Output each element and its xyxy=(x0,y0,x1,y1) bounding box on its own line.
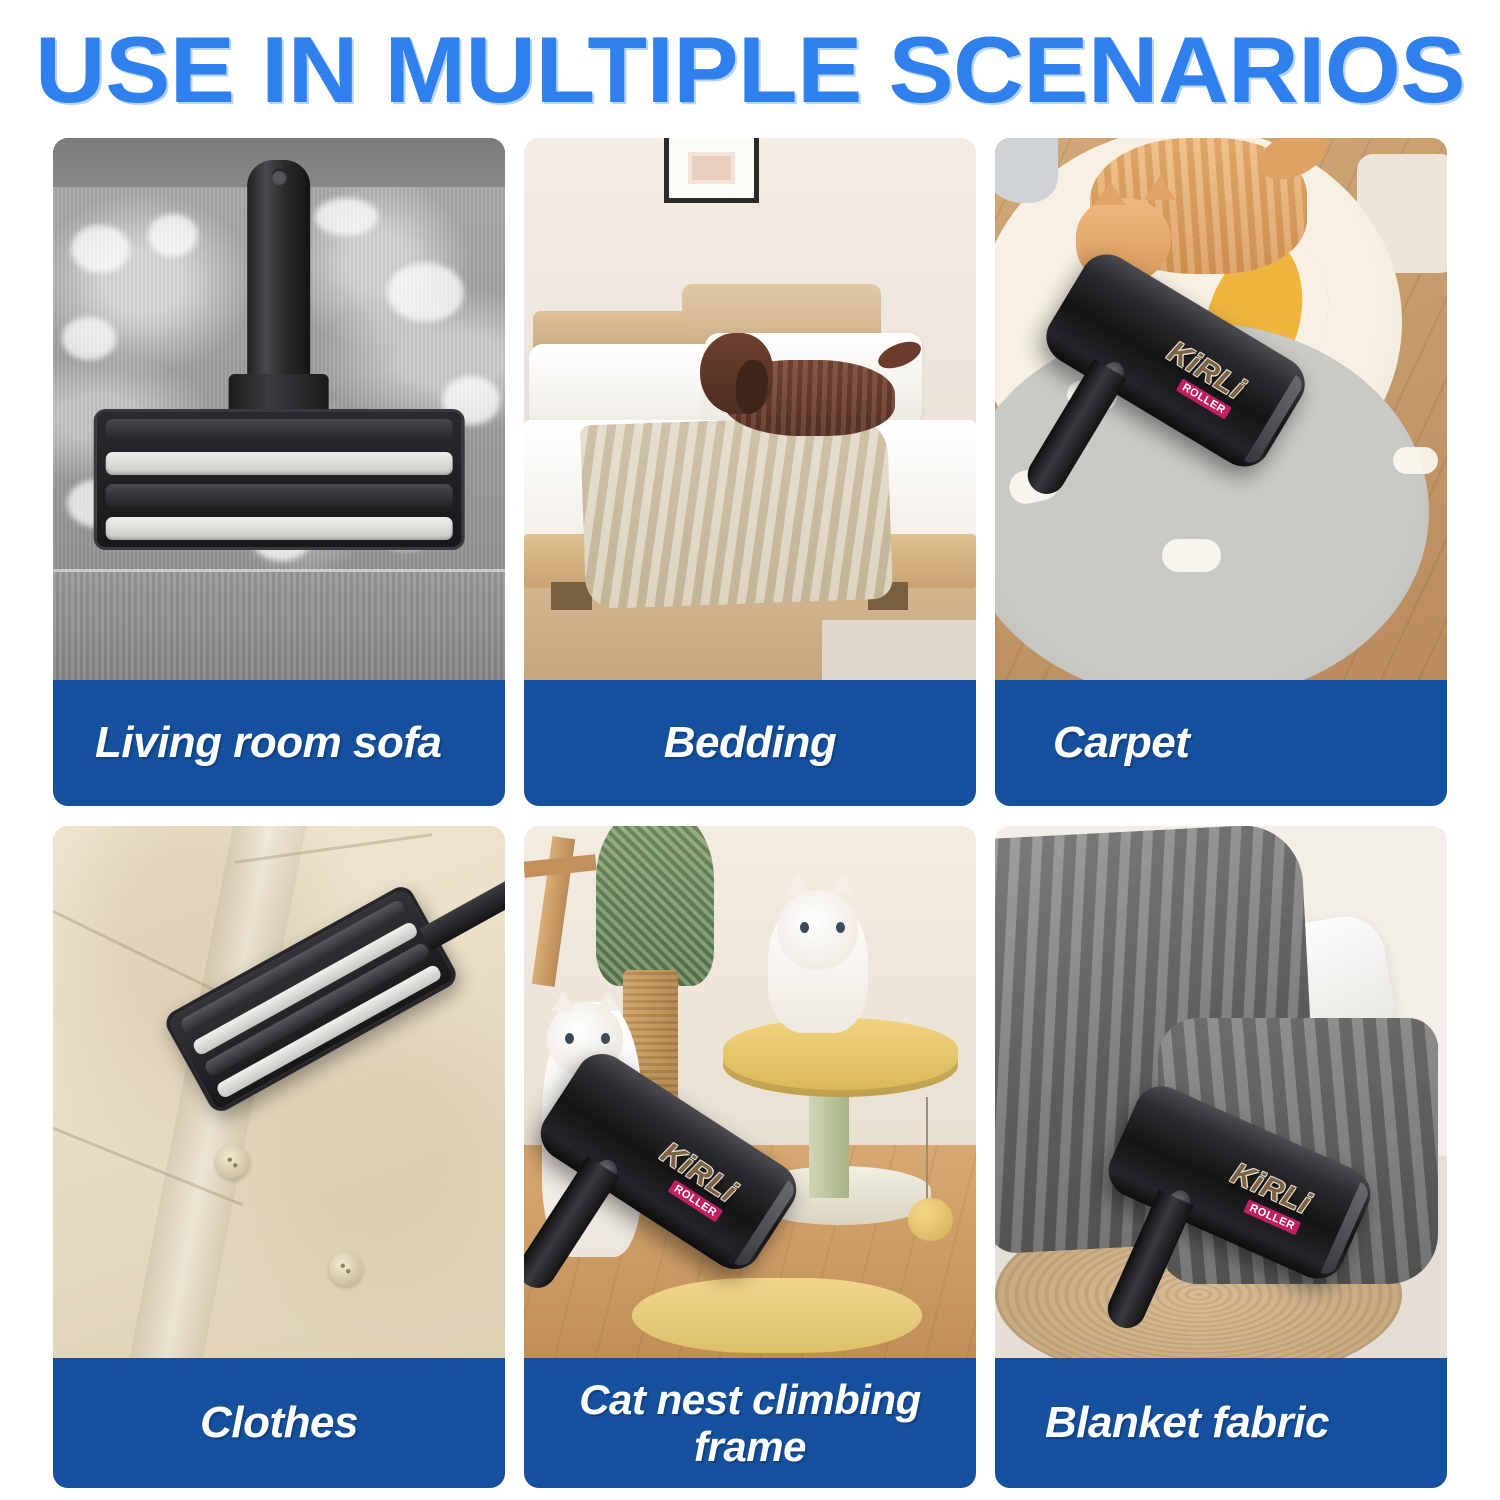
scenario-card-blanket-fabric[interactable]: KiRLi ROLLER Blanket fabric xyxy=(995,826,1447,1488)
photo-living-room-sofa xyxy=(53,138,505,680)
caption-carpet: Carpet xyxy=(995,680,1447,806)
photo-carpet: KiRLi ROLLER xyxy=(995,138,1447,680)
roller-drum-dark xyxy=(106,419,453,442)
cat-ear xyxy=(1094,181,1126,205)
cat-tree-column xyxy=(809,1081,850,1198)
cat-ear xyxy=(551,991,575,1011)
scenario-card-carpet[interactable]: KiRLi ROLLER Carpet xyxy=(995,138,1447,806)
caption-bedding: Bedding xyxy=(524,680,976,806)
roller-drum-fleece xyxy=(106,452,453,475)
rug-paw-print xyxy=(1162,539,1221,572)
kitten-ear xyxy=(831,874,855,894)
pom-pom-toy xyxy=(908,1198,953,1241)
page-title: USE IN MULTIPLE SCENARIOS xyxy=(25,14,1475,126)
caption-blanket-fabric: Blanket fabric xyxy=(995,1358,1447,1488)
roller-hang-hole xyxy=(271,169,287,185)
cat-ear xyxy=(1144,176,1176,200)
cat-tree-base xyxy=(632,1278,921,1352)
scenario-card-bedding[interactable]: Bedding xyxy=(524,138,976,806)
caption-clothes: Clothes xyxy=(53,1358,505,1488)
cat-ear xyxy=(596,991,620,1011)
caption-living-room-sofa: Living room sofa xyxy=(53,680,505,806)
photo-bedding xyxy=(524,138,976,680)
scenario-card-cat-nest-climbing-frame[interactable]: KiRLi ROLLER Cat nest climbing frame xyxy=(524,826,976,1488)
infographic-page: USE IN MULTIPLE SCENARIOS xyxy=(0,0,1500,1500)
wall-art-frame xyxy=(664,138,759,203)
cactus-scratching-post xyxy=(596,826,714,986)
white-kitten-head xyxy=(777,890,858,970)
toy-string xyxy=(926,1097,928,1203)
lint-roller-front-view xyxy=(94,160,465,550)
roller-drum-dark xyxy=(106,484,453,507)
sofa-skirt xyxy=(53,572,505,680)
photo-blanket-fabric: KiRLi ROLLER xyxy=(995,826,1447,1358)
kitten-eye xyxy=(836,922,845,933)
shirt-button xyxy=(216,1145,250,1179)
fluffy-rug-edge xyxy=(995,138,1058,203)
knit-blanket xyxy=(580,415,894,610)
roller-drum-fleece xyxy=(106,517,453,540)
photo-cat-nest-climbing-frame: KiRLi ROLLER xyxy=(524,826,976,1358)
floor-rug xyxy=(822,620,976,680)
kitten-eye xyxy=(800,922,809,933)
caption-cat-nest-climbing-frame: Cat nest climbing frame xyxy=(524,1358,976,1488)
wall-art-image xyxy=(688,152,736,183)
kitten-ear xyxy=(786,874,810,894)
shirt-button xyxy=(329,1252,363,1286)
scenario-card-clothes[interactable]: Clothes xyxy=(53,826,505,1488)
roller-head xyxy=(94,409,465,549)
photo-clothes xyxy=(53,826,505,1358)
roller-handle xyxy=(248,160,311,394)
scenario-grid: Living room sofa xyxy=(53,138,1447,1488)
scenario-card-living-room-sofa[interactable]: Living room sofa xyxy=(53,138,505,806)
rug-paw-print xyxy=(1393,447,1438,474)
